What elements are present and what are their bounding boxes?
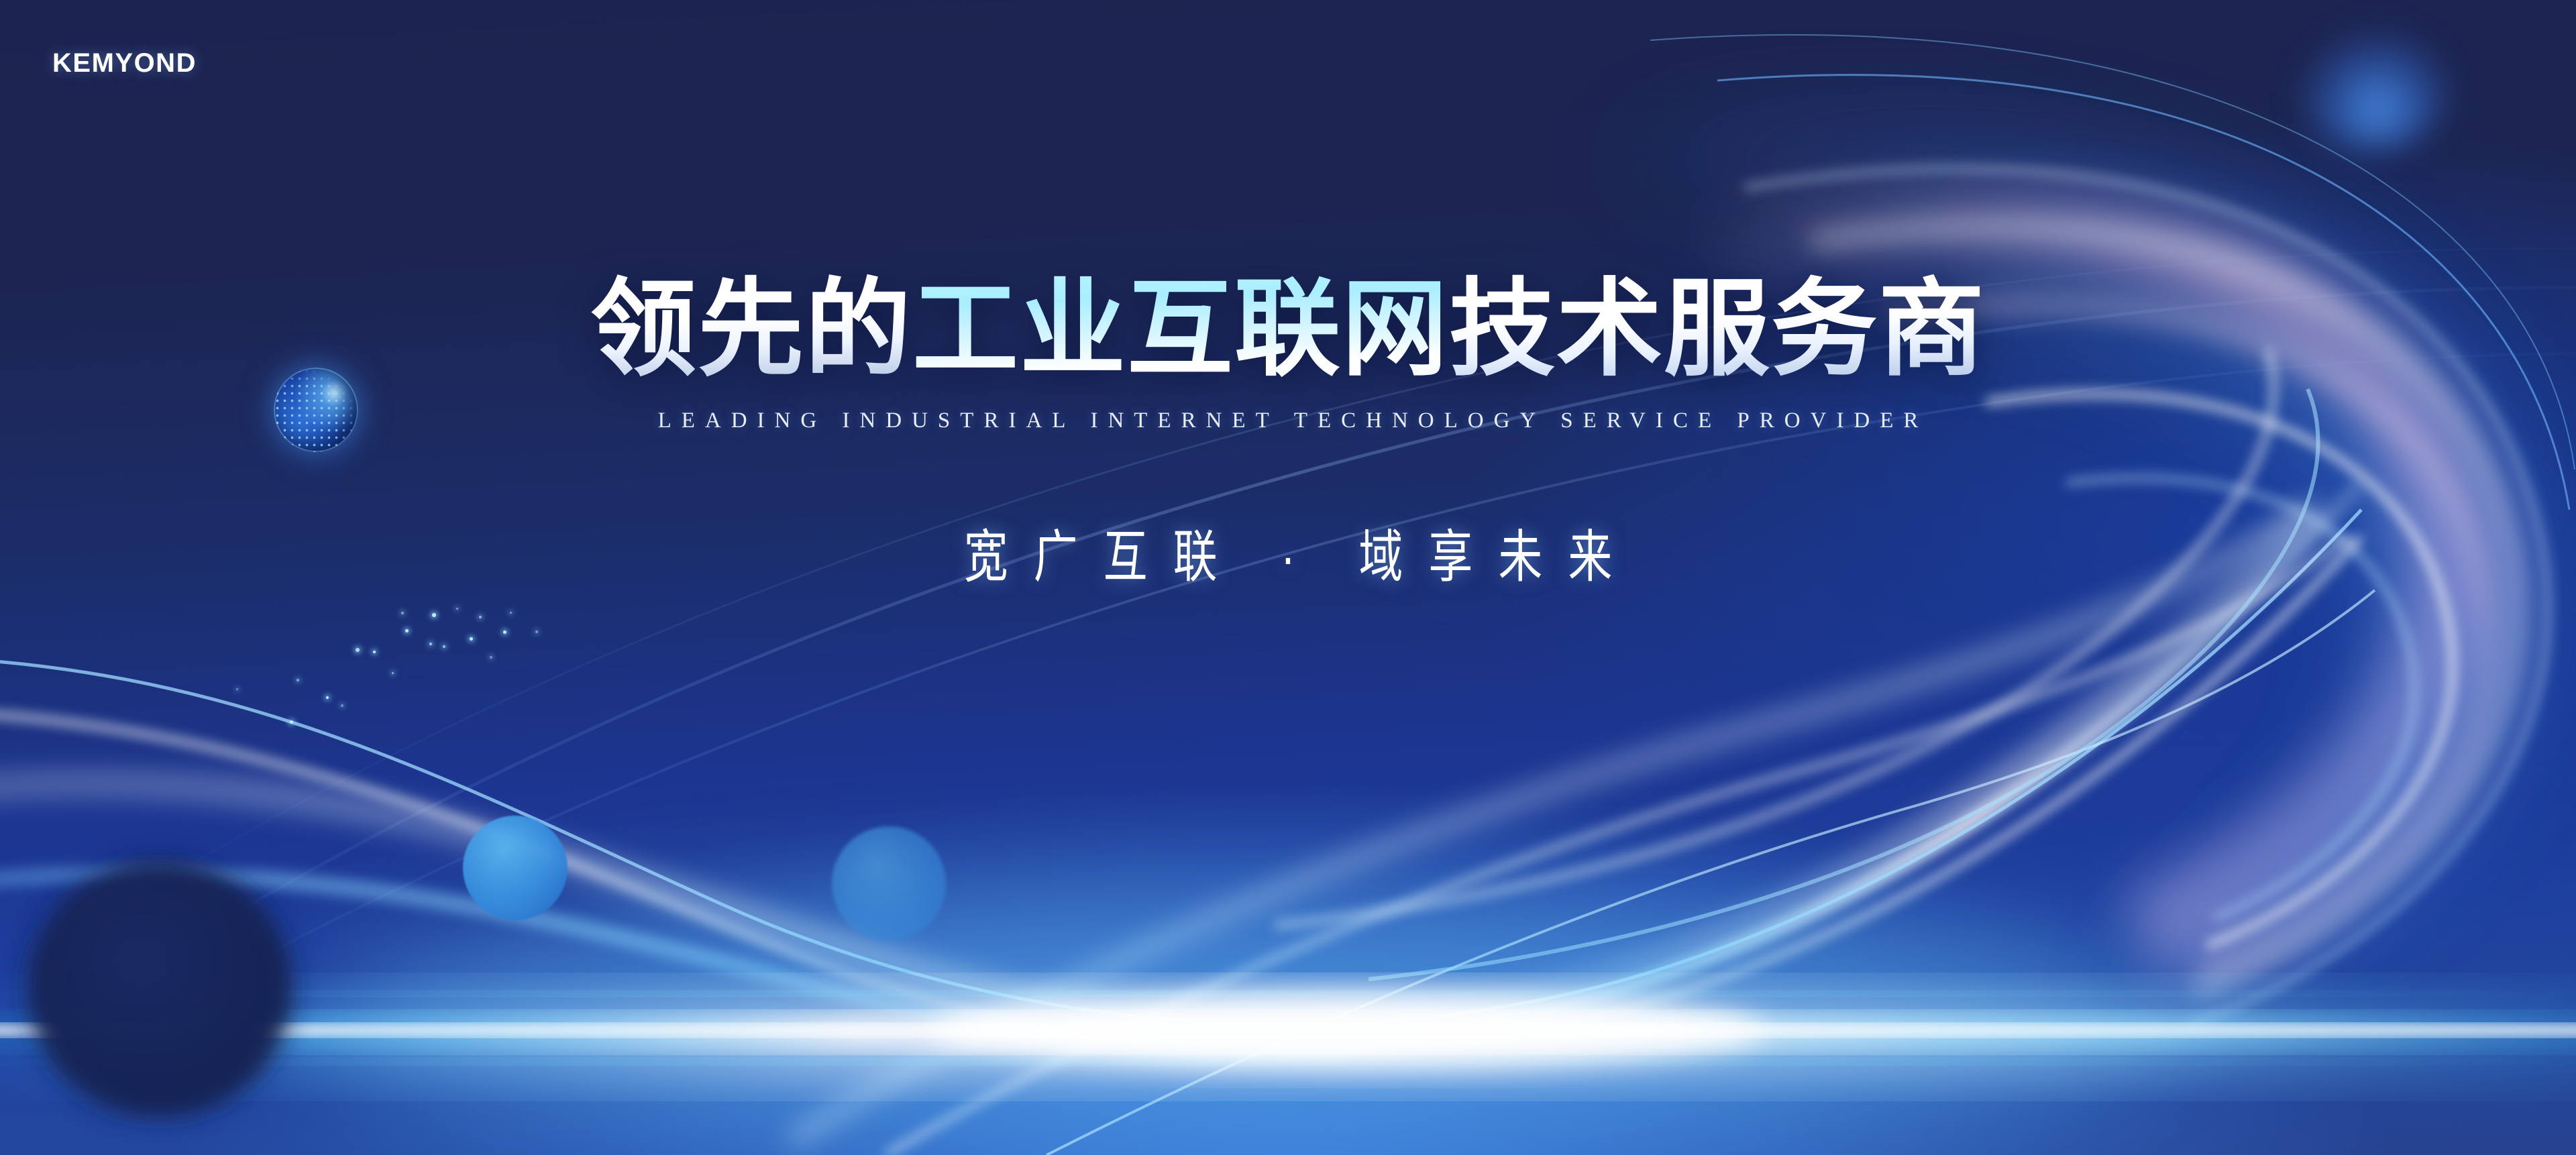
sphere-rim [274,368,358,452]
headline-part-2: 工业互联网 [912,270,1449,388]
headline-part-3: 技术服务商 [1449,270,1986,388]
flare-hotspot [932,991,1764,1069]
hero-tagline: 宽广互联 · 域享未来 [0,511,2576,594]
dark-orb-shadow [29,863,290,1115]
hero-text-block: 领先的工业互联网技术服务商 LEADING INDUSTRIAL INTERNE… [0,274,2576,575]
hero-banner: KEMYOND 领先的工业互联网技术服务商 LEADING INDUSTRIAL… [0,0,2576,1155]
page-title: 领先的工业互联网技术服务商 [0,274,2576,386]
headline-part-1: 领先的 [590,270,912,388]
data-sphere-icon [274,368,358,452]
brand-logo[interactable]: KEMYOND [52,48,197,78]
headline-subtitle: LEADING INDUSTRIAL INTERNET TECHNOLOGY S… [0,408,2576,433]
